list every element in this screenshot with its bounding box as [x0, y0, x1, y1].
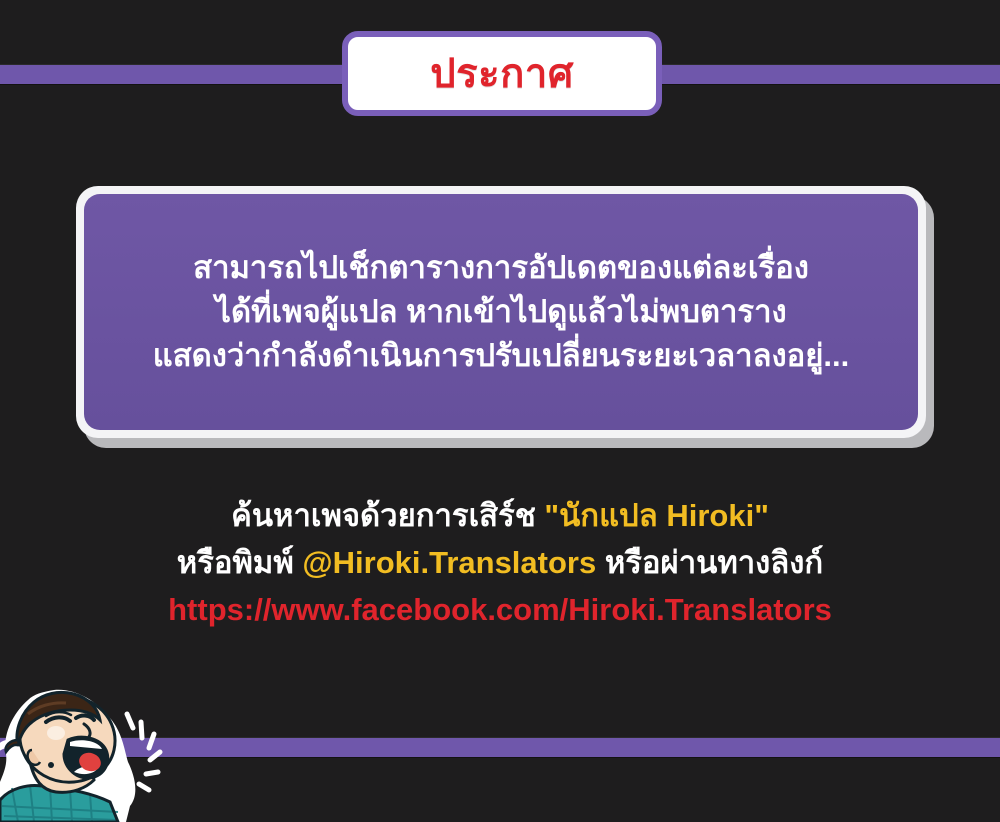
page-title: ประกาศ [430, 54, 573, 94]
handle-instruction-prefix: หรือพิมพ์ [177, 545, 303, 580]
handle-instruction-suffix: หรือผ่านทางลิงก์ [596, 545, 823, 580]
footer-text-block: ค้นหาเพจด้วยการเสิร์ช "นักแปล Hiroki" หร… [0, 492, 1000, 633]
quote-open: " [544, 498, 559, 533]
page-handle[interactable]: @Hiroki.Translators [302, 545, 596, 580]
quote-close: " [754, 498, 769, 533]
footer-line-search: ค้นหาเพจด้วยการเสิร์ช "นักแปล Hiroki" [231, 492, 769, 539]
shouting-man-illustration [0, 688, 172, 822]
page-name-highlight: นักแปล Hiroki [559, 498, 754, 533]
search-instruction-prefix: ค้นหาเพจด้วยการเสิร์ช [231, 498, 544, 533]
message-line-2: ได้ที่เพจผู้แปล หากเข้าไปดูแล้วไม่พบตารา… [215, 290, 786, 334]
message-line-1: สามารถไปเช็กตารางการอัปเดตของแต่ละเรื่อง [193, 246, 809, 290]
announcement-title-plate: ประกาศ [342, 31, 662, 116]
footer-line-handle: หรือพิมพ์ @Hiroki.Translators หรือผ่านทา… [177, 539, 823, 586]
message-card: สามารถไปเช็กตารางการอัปเดตของแต่ละเรื่อง… [84, 194, 918, 430]
message-card-wrapper: สามารถไปเช็กตารางการอัปเดตของแต่ละเรื่อง… [76, 186, 934, 448]
message-line-3: แสดงว่ากำลังดำเนินการปรับเปลี่ยนระยะเวลา… [153, 334, 850, 378]
facebook-page-link[interactable]: https://www.facebook.com/Hiroki.Translat… [168, 586, 832, 633]
